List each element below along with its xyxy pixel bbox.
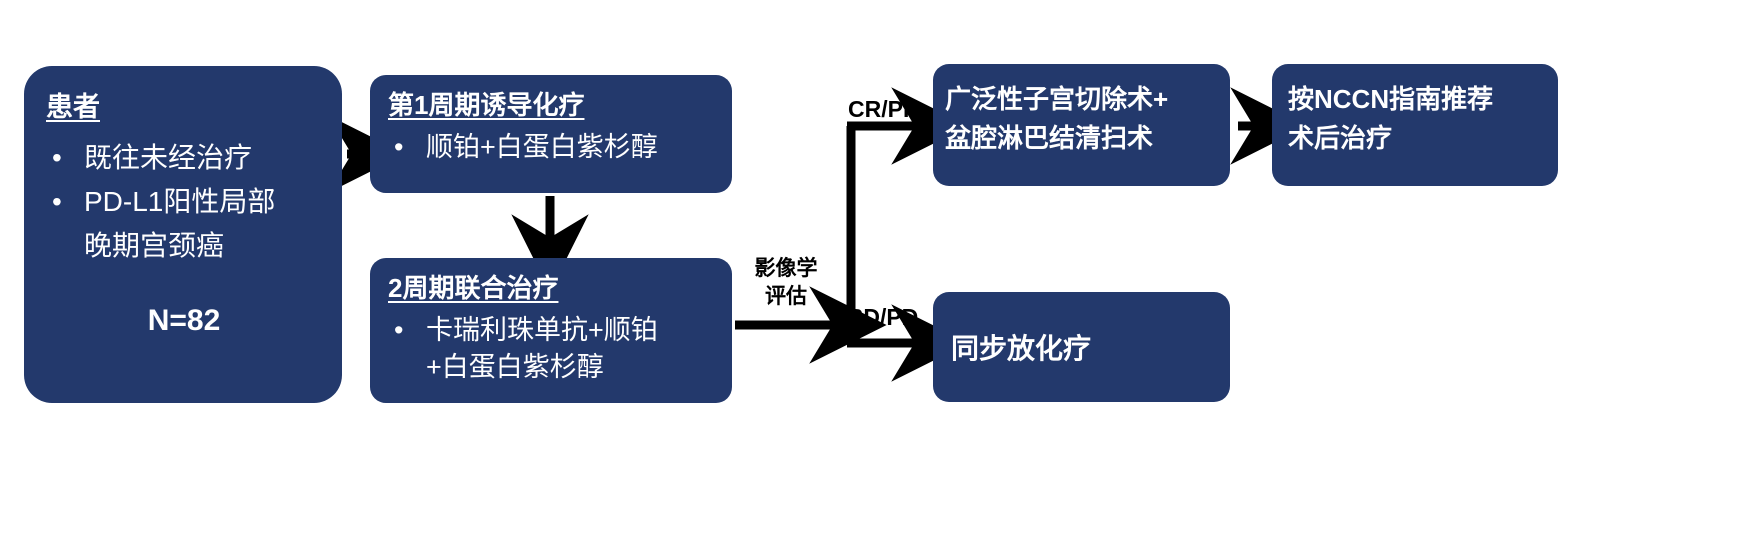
- node-radical-hysterectomy[interactable]: 广泛性子宫切除术+ 盆腔淋巴结清扫术: [933, 64, 1230, 186]
- node-surgery-line1: 广泛性子宫切除术+: [945, 80, 1220, 119]
- bullet-text: 卡瑞利珠单抗+顺铂: [426, 315, 658, 345]
- node-cycle2-title: 2周期联合治疗: [388, 272, 718, 304]
- node-nccn-adjuvant-therapy[interactable]: 按NCCN指南推荐 术后治疗: [1272, 64, 1558, 186]
- node-nccn-line1: 按NCCN指南推荐: [1288, 80, 1548, 119]
- edge-label-imaging-line2: 评估: [748, 283, 824, 311]
- node-patients-title: 患者: [46, 90, 322, 124]
- node-cycle1-induction-chemo[interactable]: 第1周期诱导化疗 • 顺铂+白蛋白紫杉醇: [370, 75, 732, 193]
- bullet-text: PD-L1阳性局部: [84, 186, 275, 217]
- node-cycle2-bullets: • 卡瑞利珠单抗+顺铂 +白蛋白紫杉醇: [388, 312, 718, 386]
- node-cycle2-combination-therapy[interactable]: 2周期联合治疗 • 卡瑞利珠单抗+顺铂 +白蛋白紫杉醇: [370, 258, 732, 403]
- node-nccn-line2: 术后治疗: [1288, 119, 1548, 158]
- edge-label-sd-pd: SD/PD: [848, 304, 918, 331]
- node-cycle1-bullets: • 顺铂+白蛋白紫杉醇: [388, 129, 716, 165]
- list-item: • 既往未经治疗: [46, 136, 322, 180]
- edge-label-cr-pr: CR/PR: [848, 96, 920, 123]
- bullet-marker: •: [394, 129, 403, 165]
- node-patients-sample-size: N=82: [46, 304, 322, 338]
- node-ccrt-line1: 同步放化疗: [951, 327, 1091, 367]
- flowchart-canvas: 患者 • 既往未经治疗 • PD-L1阳性局部 晚期宫颈癌 N=82 第1周期诱…: [0, 0, 1738, 537]
- node-patients-bullets: • 既往未经治疗 • PD-L1阳性局部 晚期宫颈癌: [46, 136, 322, 268]
- bullet-marker: •: [394, 312, 403, 349]
- bullet-text-continued: 晚期宫颈癌: [84, 224, 322, 268]
- node-surgery-line2: 盆腔淋巴结清扫术: [945, 119, 1220, 158]
- list-item: • 卡瑞利珠单抗+顺铂 +白蛋白紫杉醇: [388, 312, 718, 386]
- edge-label-imaging-line1: 影像学: [748, 255, 824, 283]
- list-item: • 顺铂+白蛋白紫杉醇: [388, 129, 716, 165]
- bullet-marker: •: [52, 180, 62, 224]
- node-cycle1-title: 第1周期诱导化疗: [388, 89, 716, 121]
- edge-label-imaging-assessment: 影像学 评估: [748, 255, 824, 311]
- node-patients[interactable]: 患者 • 既往未经治疗 • PD-L1阳性局部 晚期宫颈癌 N=82: [24, 66, 342, 403]
- node-concurrent-chemoradiotherapy[interactable]: 同步放化疗: [933, 292, 1230, 402]
- bullet-text-continued: +白蛋白紫杉醇: [426, 349, 718, 386]
- bullet-marker: •: [52, 136, 62, 180]
- bullet-text: 既往未经治疗: [84, 142, 252, 173]
- bullet-text: 顺铂+白蛋白紫杉醇: [426, 132, 658, 162]
- list-item: • PD-L1阳性局部 晚期宫颈癌: [46, 180, 322, 268]
